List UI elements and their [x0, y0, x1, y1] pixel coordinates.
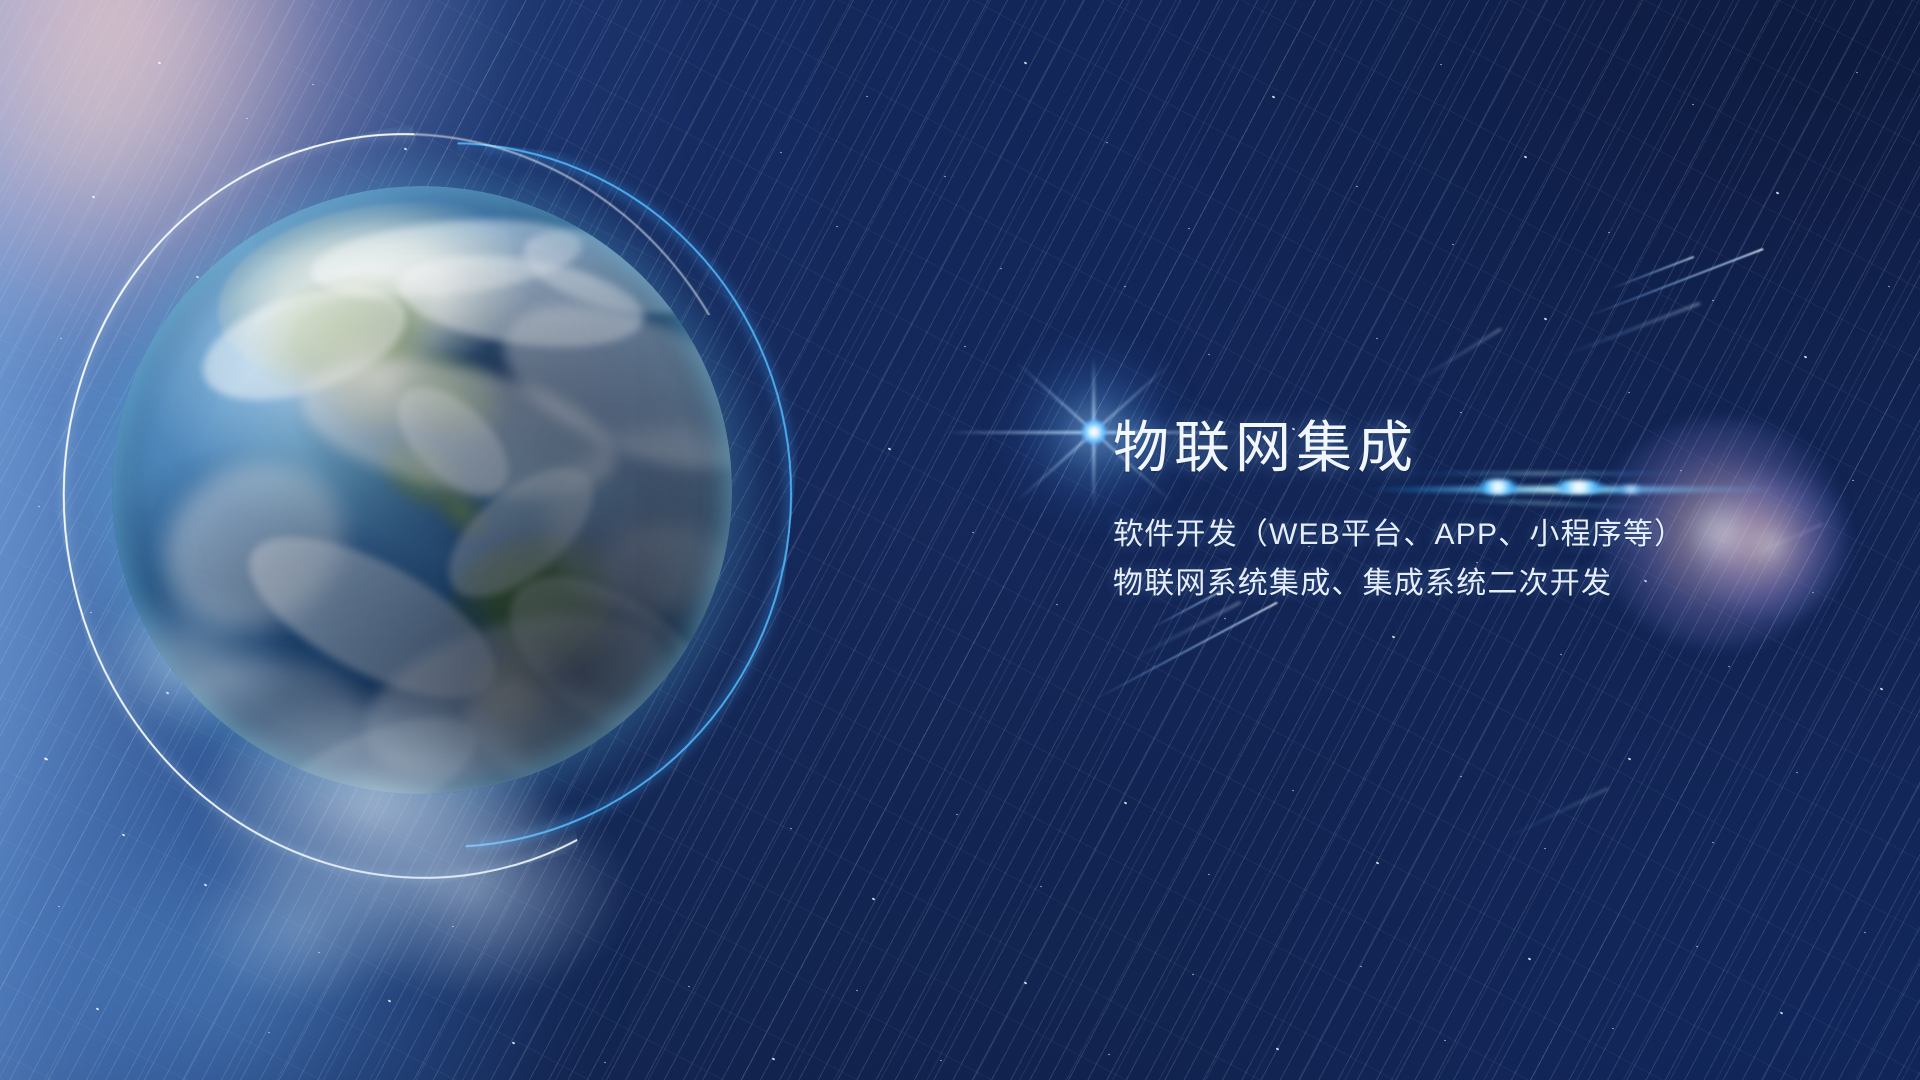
star-dot — [1780, 1011, 1784, 1014]
cloud-plume-below-globe — [150, 700, 710, 1030]
star-dot — [512, 1041, 516, 1044]
subtitle-line-2: 物联网系统集成、集成系统二次开发 — [1113, 560, 1873, 609]
star-dot — [1528, 957, 1532, 960]
star-dot — [956, 814, 958, 816]
star-dot — [1192, 974, 1194, 976]
star-dot — [1544, 848, 1546, 850]
star-dot — [1452, 244, 1454, 246]
star-dot — [1056, 604, 1058, 606]
star-dot — [1276, 1047, 1280, 1050]
star-dot — [1188, 228, 1190, 230]
star-dot — [1628, 392, 1630, 394]
star-dot — [1108, 1054, 1110, 1056]
star-dot — [1356, 186, 1358, 188]
text-block: 物联网集成 软件开发（WEB平台、APP、小程序等） 物联网系统集成、集成系统二… — [1113, 418, 1873, 609]
star-dot — [1024, 981, 1028, 984]
star-dot — [1804, 355, 1808, 358]
star-dot — [1776, 191, 1780, 194]
star-dot — [1612, 1028, 1614, 1030]
globe-group — [0, 0, 900, 1000]
star-dot — [1392, 635, 1396, 638]
star-dot — [1440, 64, 1442, 66]
star-dot — [1864, 932, 1866, 934]
star-dot — [1376, 861, 1380, 864]
hero-banner: 物联网集成 软件开发（WEB平台、APP、小程序等） 物联网系统集成、集成系统二… — [0, 0, 1920, 1080]
star-dot — [1608, 232, 1610, 234]
star-dot — [1124, 286, 1126, 288]
star-dot — [1796, 772, 1798, 774]
star-dot — [96, 1007, 100, 1010]
star-dot — [964, 346, 966, 348]
star-dot — [1460, 412, 1462, 414]
star-dot — [1040, 886, 1042, 888]
star-dot — [1712, 842, 1714, 844]
star-dot — [604, 1062, 606, 1064]
star-dot — [1712, 300, 1714, 302]
star-dot — [772, 1057, 776, 1060]
star-dot — [944, 176, 946, 178]
star-dot — [1524, 155, 1528, 158]
star-dot — [1880, 687, 1884, 690]
star-dot — [1628, 757, 1632, 760]
star-dot — [1360, 966, 1362, 968]
star-dot — [1888, 286, 1890, 288]
star-dot — [1544, 317, 1548, 320]
subtitle-line-1: 软件开发（WEB平台、APP、小程序等） — [1113, 511, 1873, 560]
star-dot — [940, 1060, 942, 1062]
star-dot — [1444, 1040, 1446, 1042]
subtitle-group: 软件开发（WEB平台、APP、小程序等） 物联网系统集成、集成系统二次开发 — [1113, 511, 1873, 608]
star-dot — [1124, 801, 1128, 804]
star-dot — [1272, 95, 1276, 98]
star-dot — [1208, 874, 1210, 876]
star-dot — [1024, 61, 1028, 64]
star-dot — [1460, 776, 1462, 778]
star-dot — [1224, 618, 1226, 620]
star-dot — [1106, 142, 1108, 144]
star-dot — [1856, 72, 1858, 74]
star-dot — [1376, 338, 1378, 340]
star-dot — [1208, 354, 1210, 356]
page-title: 物联网集成 — [1113, 418, 1873, 477]
star-dot — [1728, 666, 1730, 668]
star-dot — [1692, 104, 1694, 106]
star-dot — [972, 532, 974, 534]
star-dot — [1000, 268, 1002, 270]
star-dot — [1560, 654, 1562, 656]
star-dot — [268, 1032, 270, 1034]
star-dot — [1292, 790, 1294, 792]
star-dot — [1696, 946, 1698, 948]
